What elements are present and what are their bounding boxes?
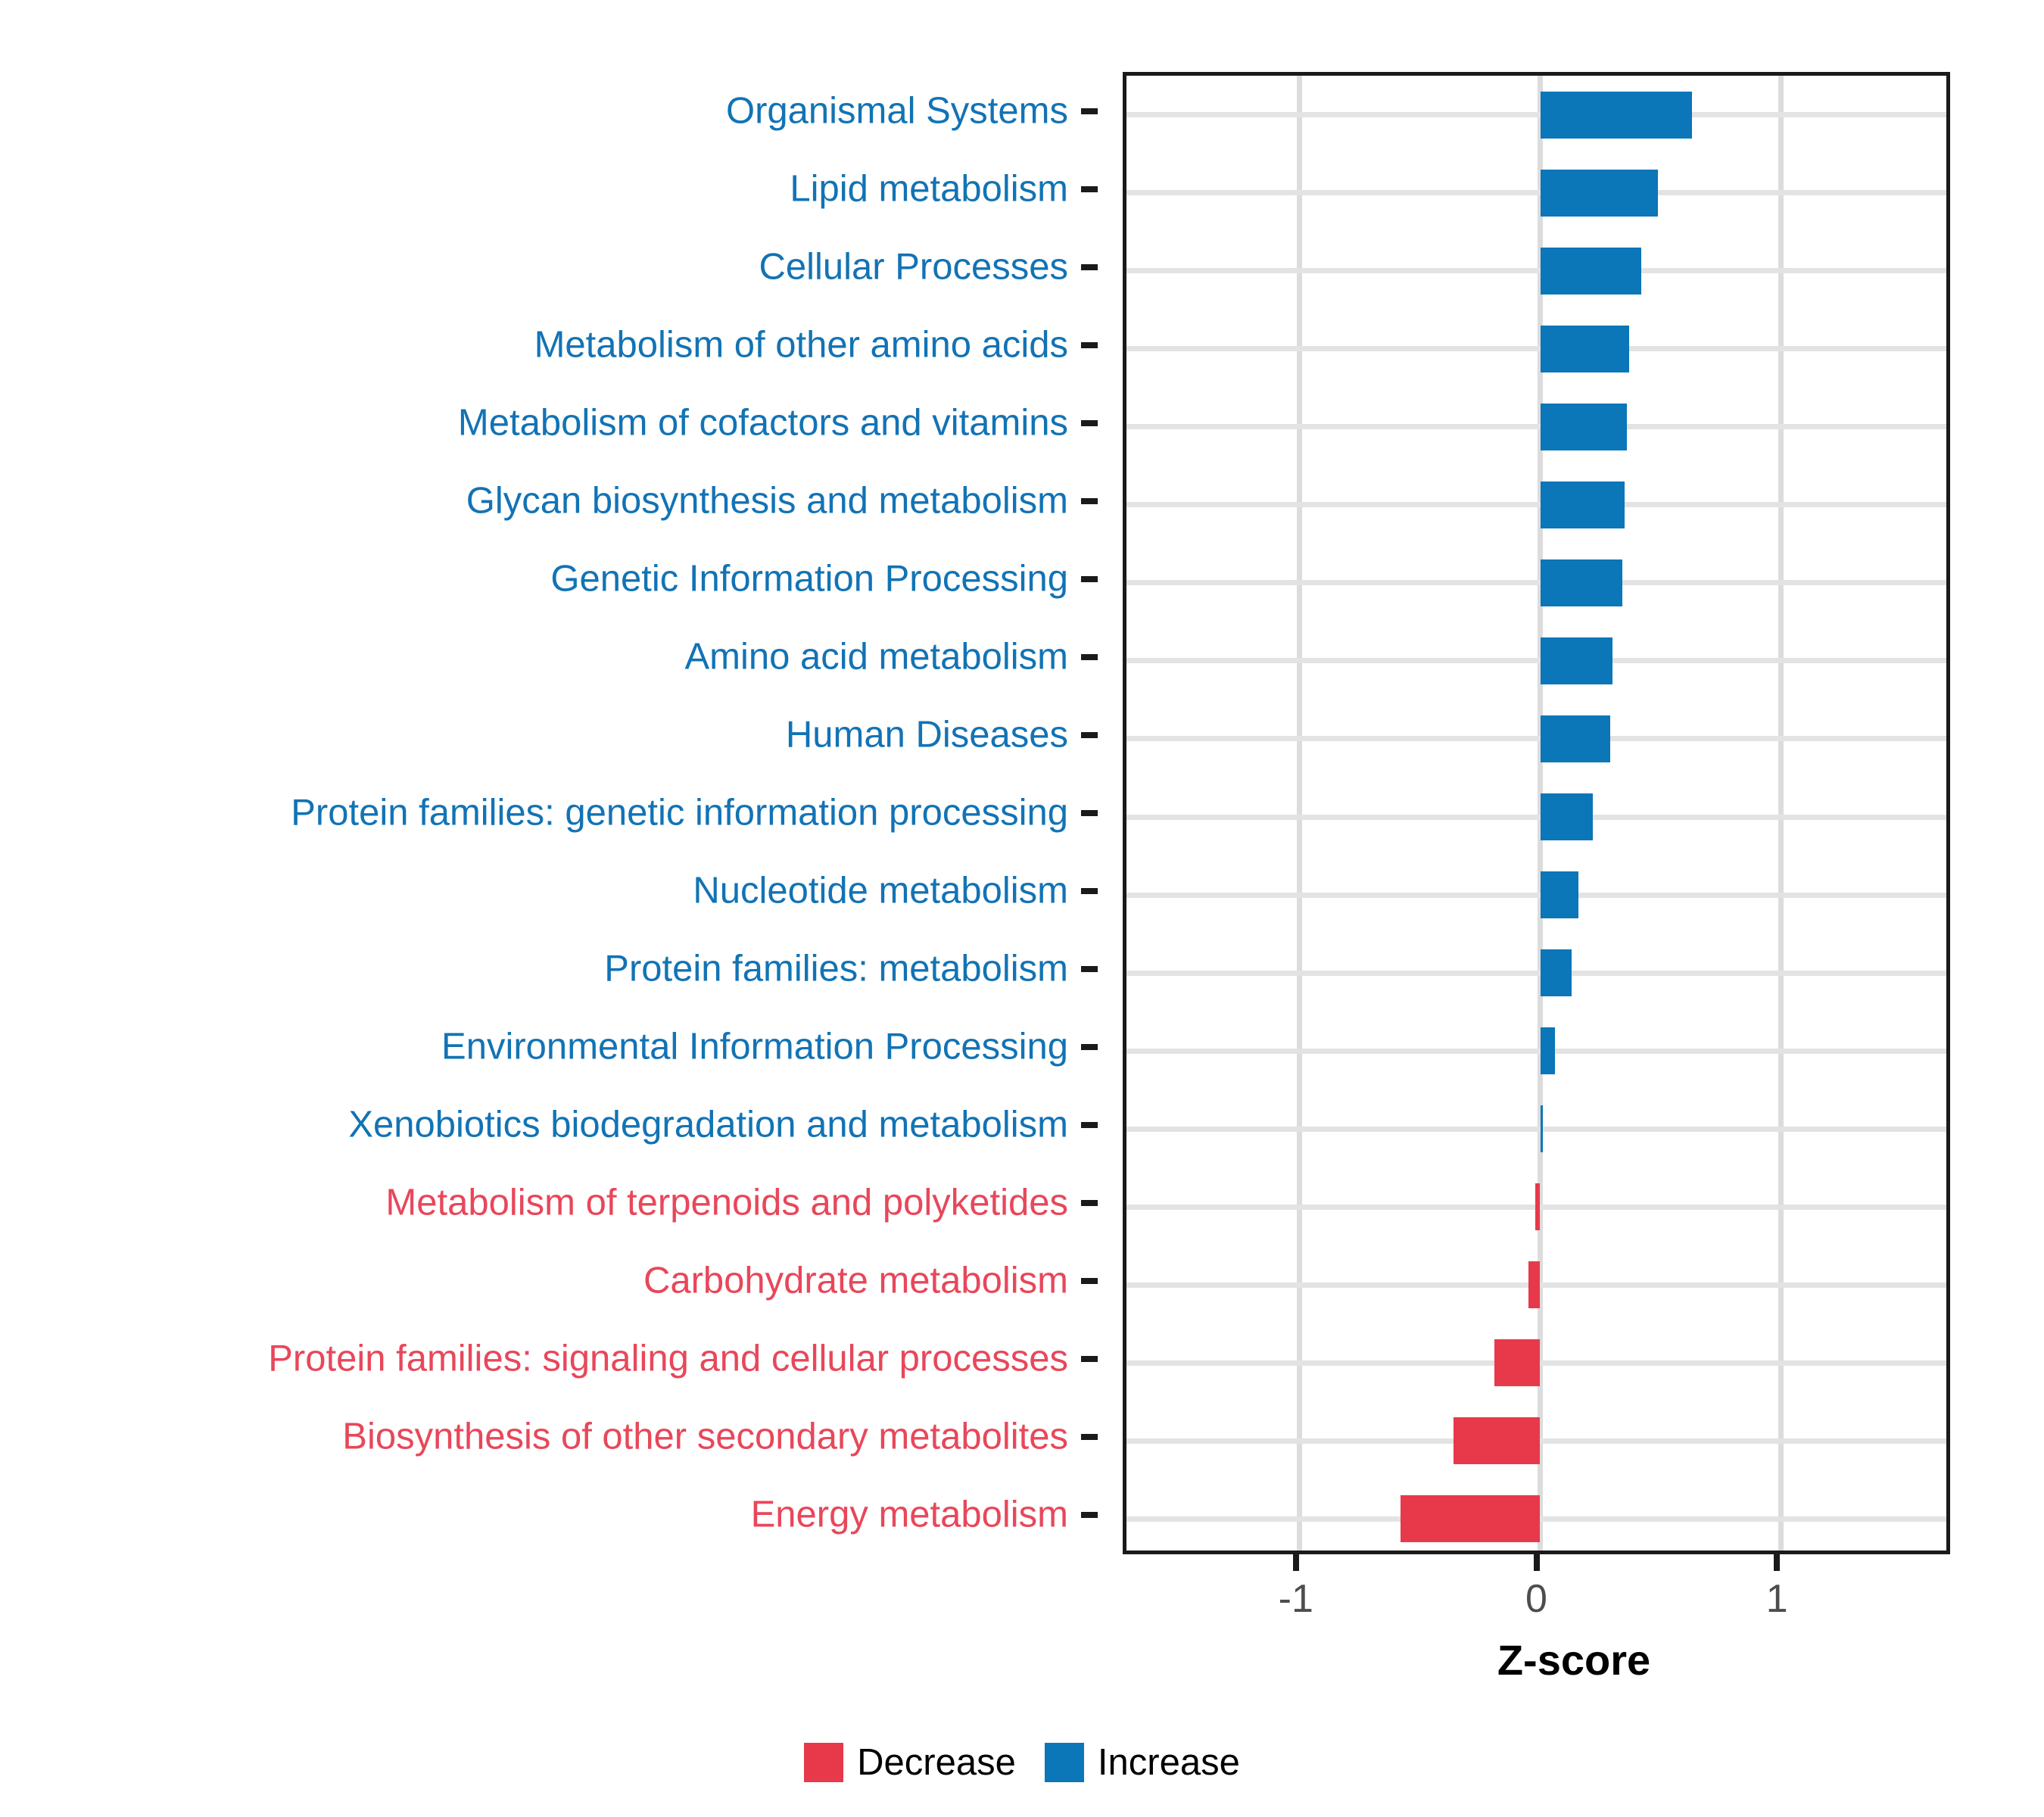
y-axis-tick [1081, 264, 1098, 270]
y-axis-tick [1081, 888, 1098, 894]
y-gridline [1126, 893, 1946, 898]
y-axis-tick [1081, 810, 1098, 816]
y-gridline [1126, 580, 1946, 585]
legend-label: Increase [1098, 1741, 1240, 1784]
y-axis-label: Metabolism of terpenoids and polyketides [385, 1185, 1068, 1222]
y-axis-label: Lipid metabolism [790, 170, 1068, 207]
y-axis-tick [1081, 1356, 1098, 1362]
legend-swatch-icon [804, 1743, 843, 1782]
legend-swatch-icon [1045, 1743, 1084, 1782]
y-axis-tick [1081, 420, 1098, 426]
bar[interactable] [1494, 1339, 1540, 1386]
bar[interactable] [1541, 871, 1579, 918]
y-gridline [1126, 190, 1946, 195]
y-axis-tick [1081, 1278, 1098, 1284]
y-axis-tick [1081, 732, 1098, 738]
x-axis-tick-label: -1 [1279, 1576, 1313, 1622]
y-axis-tick [1081, 1200, 1098, 1206]
y-axis-label: Metabolism of other amino acids [534, 326, 1068, 363]
y-axis-label: Environmental Information Processing [441, 1029, 1068, 1066]
y-axis-label: Protein families: signaling and cellular… [268, 1341, 1068, 1378]
y-gridline [1126, 424, 1946, 429]
bar[interactable] [1541, 482, 1625, 528]
y-axis-label: Amino acid metabolism [684, 638, 1068, 675]
y-axis-tick [1081, 342, 1098, 348]
bar[interactable] [1535, 1183, 1540, 1230]
bar[interactable] [1541, 248, 1641, 295]
y-axis-tick [1081, 498, 1098, 504]
bar[interactable] [1541, 793, 1594, 840]
y-axis-tick [1081, 186, 1098, 192]
x-axis-tick-label: 0 [1525, 1576, 1547, 1622]
y-axis-tick [1081, 654, 1098, 660]
y-axis-label: Genetic Information Processing [550, 560, 1068, 597]
y-gridline [1126, 736, 1946, 741]
bar[interactable] [1541, 559, 1622, 606]
y-axis-label: Protein families: genetic information pr… [291, 795, 1068, 832]
bar[interactable] [1541, 1105, 1543, 1152]
y-gridline [1126, 112, 1946, 117]
y-axis-label: Cellular Processes [759, 248, 1069, 285]
bar[interactable] [1541, 170, 1659, 217]
y-gridline [1126, 971, 1946, 976]
y-axis-label: Nucleotide metabolism [693, 873, 1068, 910]
bar[interactable] [1541, 92, 1692, 139]
y-gridline [1126, 815, 1946, 820]
y-axis-tick [1081, 966, 1098, 972]
x-axis-tick [1293, 1554, 1299, 1571]
y-gridline [1126, 346, 1946, 351]
y-axis-tick [1081, 576, 1098, 582]
bar[interactable] [1454, 1417, 1540, 1464]
y-axis-label: Glycan biosynthesis and metabolism [466, 482, 1068, 519]
chart-root: Organismal SystemsLipid metabolismCellul… [0, 0, 2044, 1817]
plot-panel [1123, 72, 1950, 1554]
x-gridline [1297, 76, 1302, 1551]
bar[interactable] [1541, 637, 1612, 684]
bar[interactable] [1541, 326, 1630, 372]
x-axis-tick-label: 1 [1766, 1576, 1788, 1622]
y-axis-tick [1081, 1434, 1098, 1440]
legend-item[interactable]: Decrease [804, 1741, 1016, 1784]
y-axis-label: Organismal Systems [726, 92, 1068, 129]
x-axis-title: Z-score [1497, 1635, 1650, 1685]
y-axis-label: Carbohydrate metabolism [643, 1263, 1068, 1300]
y-axis-tick [1081, 1044, 1098, 1050]
y-gridline [1126, 1049, 1946, 1054]
y-gridline [1126, 268, 1946, 273]
y-axis-tick [1081, 1122, 1098, 1128]
bar[interactable] [1541, 715, 1610, 762]
bar[interactable] [1401, 1495, 1540, 1542]
x-axis-tick [1774, 1554, 1780, 1571]
legend-label: Decrease [857, 1741, 1016, 1784]
y-axis-tick [1081, 108, 1098, 114]
bar[interactable] [1541, 1027, 1555, 1074]
bar[interactable] [1528, 1261, 1541, 1308]
y-axis-label: Metabolism of cofactors and vitamins [458, 404, 1068, 441]
chart-legend: DecreaseIncrease [0, 1741, 2044, 1784]
y-gridline [1126, 502, 1946, 507]
y-gridline [1126, 1127, 1946, 1132]
y-axis-label: Xenobiotics biodegradation and metabolis… [348, 1107, 1068, 1144]
y-gridline [1126, 658, 1946, 663]
y-axis-label: Human Diseases [786, 716, 1068, 753]
bar[interactable] [1541, 949, 1572, 996]
x-gridline [1778, 76, 1784, 1551]
y-axis-tick [1081, 1512, 1098, 1518]
bar[interactable] [1541, 404, 1627, 450]
y-axis-labels: Organismal SystemsLipid metabolismCellul… [0, 72, 1101, 1554]
y-axis-label: Energy metabolism [751, 1497, 1068, 1534]
y-axis-label: Biosynthesis of other secondary metaboli… [342, 1419, 1068, 1456]
x-axis-tick [1534, 1554, 1540, 1571]
legend-item[interactable]: Increase [1045, 1741, 1240, 1784]
y-axis-label: Protein families: metabolism [604, 951, 1068, 988]
